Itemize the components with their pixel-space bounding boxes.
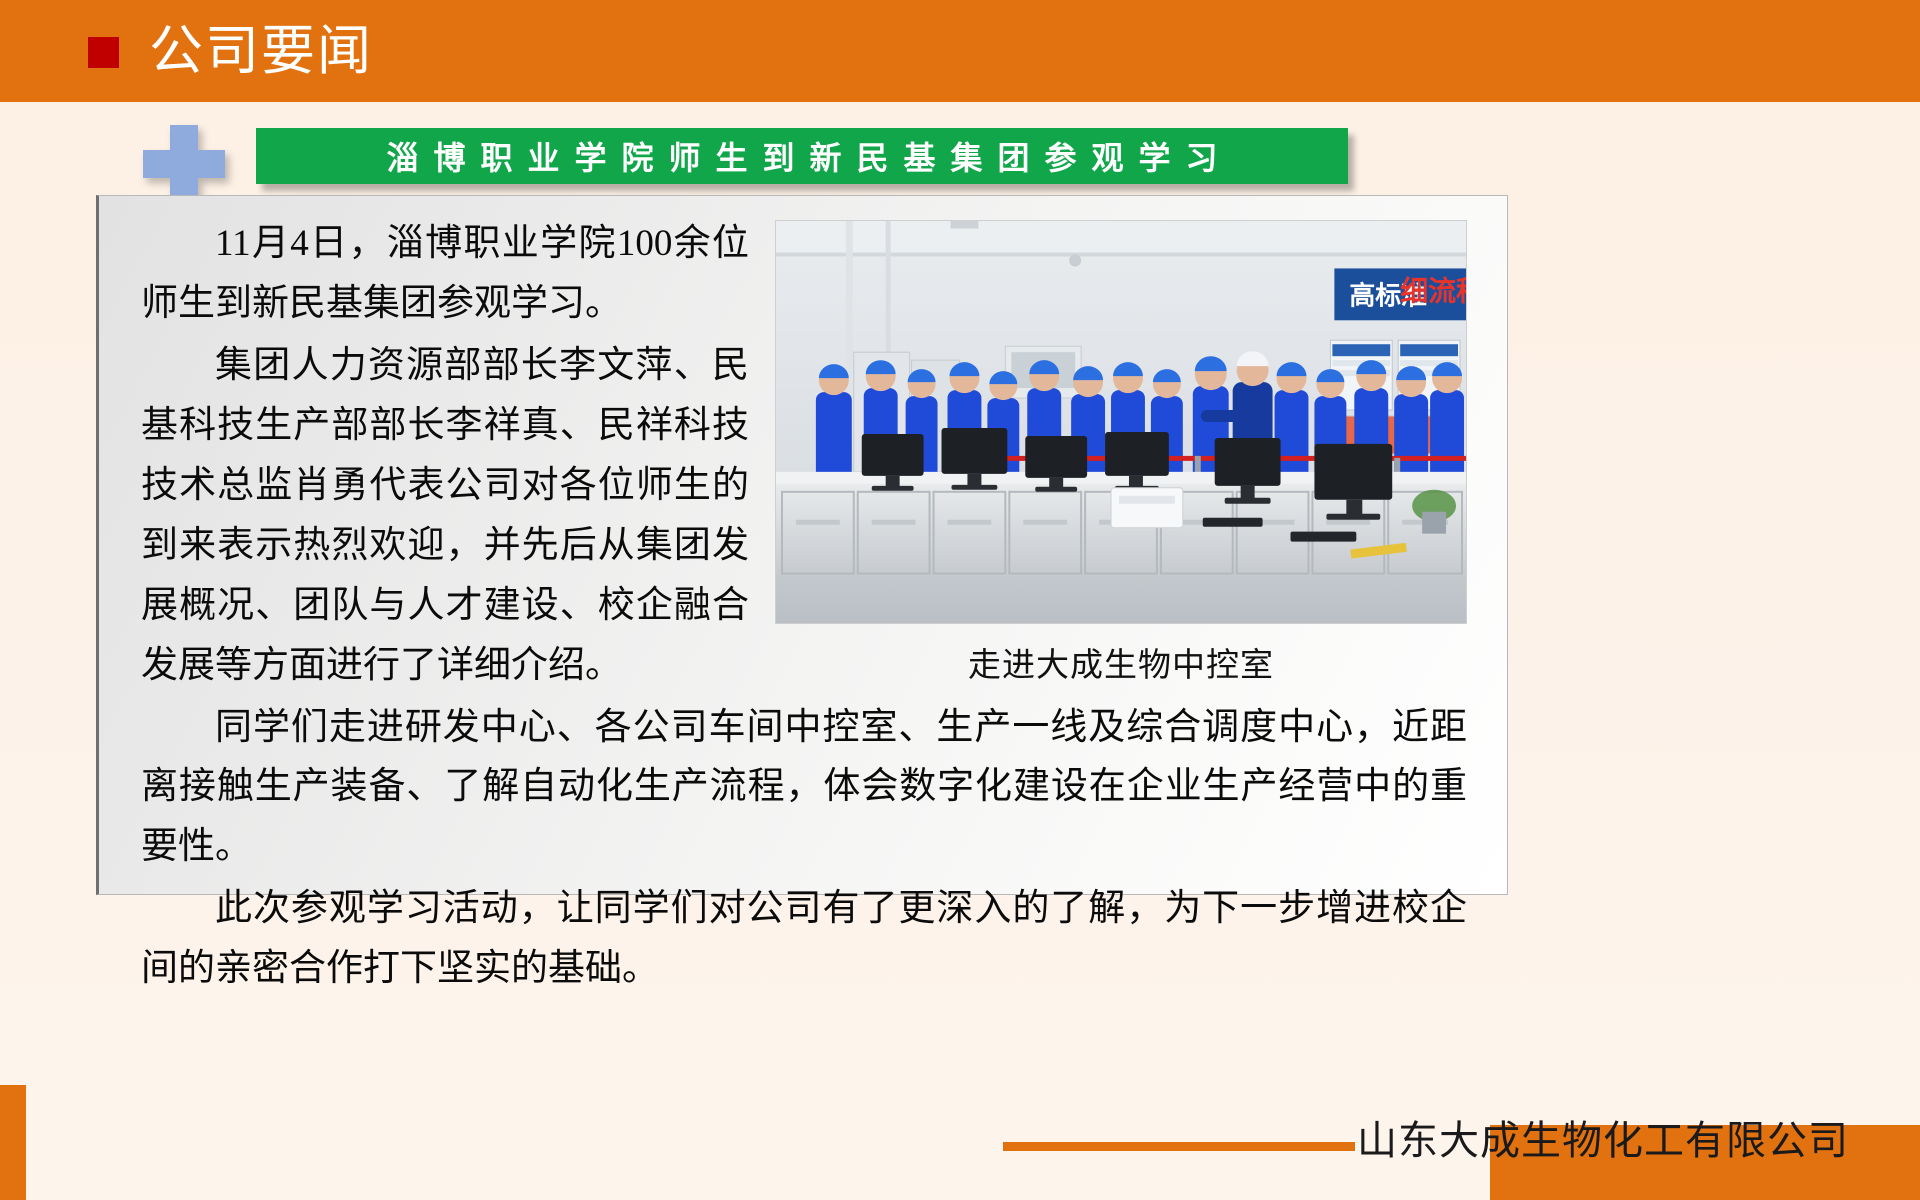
- photo-caption: 走进大成生物中控室: [775, 638, 1467, 686]
- article-title: 淄博职业学院师生到新民基集团参观学习: [371, 133, 1232, 179]
- square-bullet-icon: [88, 37, 119, 68]
- header-content: 公司要闻: [88, 0, 373, 98]
- footer-rule: [1003, 1142, 1355, 1151]
- article-title-banner: 淄博职业学院师生到新民基集团参观学习: [256, 128, 1348, 184]
- control-room-visit-photo: 高标准 细流程: [775, 220, 1467, 624]
- article-paragraph-4: 此次参观学习活动，让同学们对公司有了更深入的了解，为下一步增进校企间的亲密合作打…: [141, 879, 1467, 999]
- footer-company-name: 山东大成生物化工有限公司: [1357, 1108, 1849, 1166]
- article-paragraph-3: 同学们走进研发中心、各公司车间中控室、生产一线及综合调度中心，近距离接触生产装备…: [141, 698, 1467, 878]
- blue-cross-icon: [143, 125, 225, 203]
- page-title: 公司要闻: [149, 24, 373, 78]
- header-bar: 公司要闻: [0, 0, 1920, 98]
- article-content-panel: 高标准 细流程: [96, 195, 1508, 895]
- footer-left-accent-bar: [0, 1085, 26, 1200]
- header-underline-divider: [0, 98, 1920, 102]
- slide-root: 公司要闻 淄博职业学院师生到新民基集团参观学习: [0, 0, 1920, 1200]
- photo-figure: 高标准 细流程: [775, 220, 1467, 686]
- svg-text:细流程: 细流程: [1400, 274, 1466, 306]
